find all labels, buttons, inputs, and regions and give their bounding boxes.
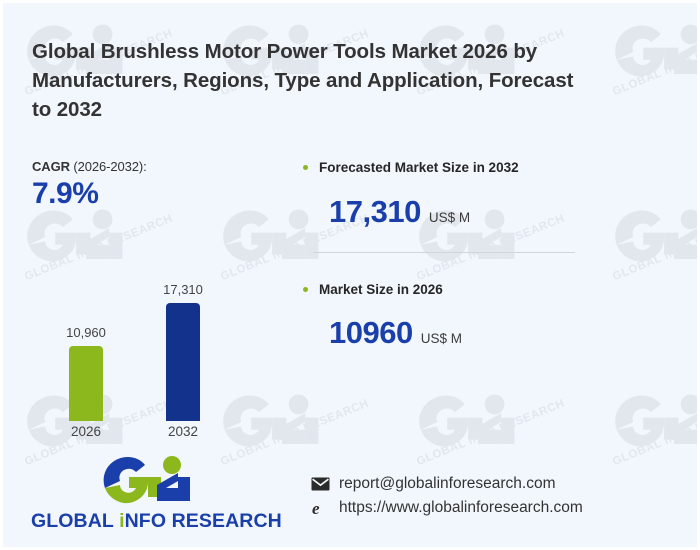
- page-title: Global Brushless Motor Power Tools Marke…: [32, 37, 592, 124]
- svg-text:e: e: [312, 499, 320, 517]
- cagr-block: CAGR (2026-2032): 7.9%: [32, 159, 272, 211]
- bar-rect-2026: [69, 346, 103, 421]
- contact-website: https://www.globalinforesearch.com: [339, 499, 583, 517]
- stat-title-row: Forecasted Market Size in 2032: [303, 158, 683, 178]
- bar-group-2026: 10,960 2026: [69, 346, 103, 421]
- market-size-bar-chart: 10,960 2026 17,310 2032: [23, 273, 273, 443]
- stat-title-current: Market Size in 2026: [319, 280, 443, 300]
- logo-wordmark-part1: GLOBAL: [31, 510, 119, 532]
- report-cover-page: GLOBAL iNFO RESEARCHGLOBAL iNFO RESEARCH…: [0, 0, 700, 550]
- contact-block: report@globalinforesearch.com e https://…: [310, 475, 690, 523]
- company-logo: GLOBAL iNFO RESEARCH: [31, 455, 263, 533]
- contact-row-website[interactable]: e https://www.globalinforesearch.com: [310, 499, 690, 517]
- cagr-label-bold: CAGR: [32, 159, 70, 174]
- bar-label-2032: 2032: [168, 424, 198, 439]
- logo-wordmark: GLOBAL iNFO RESEARCH: [31, 510, 263, 533]
- stats-divider: [313, 252, 575, 253]
- bar-value-2032: 17,310: [163, 282, 203, 297]
- envelope-icon: [310, 475, 331, 493]
- contact-row-email[interactable]: report@globalinforesearch.com: [310, 475, 690, 493]
- gi-logo-icon: [98, 455, 196, 507]
- bar-label-2026: 2026: [71, 424, 101, 439]
- stats-panel: Forecasted Market Size in 2032 17,310 US…: [303, 158, 683, 351]
- stat-block-forecast: Forecasted Market Size in 2032 17,310 US…: [303, 158, 683, 230]
- stat-title-forecast: Forecasted Market Size in 2032: [319, 158, 519, 178]
- bar-group-2032: 17,310 2032: [166, 303, 200, 421]
- bar-value-2026: 10,960: [66, 325, 106, 340]
- stat-block-current: Market Size in 2026 10960 US$ M: [303, 280, 683, 352]
- bullet-dot-icon: [303, 287, 308, 292]
- cagr-label: CAGR (2026-2032):: [32, 159, 272, 174]
- stat-value-row-current: 10960 US$ M: [329, 315, 683, 351]
- bar-rect-2032: [166, 303, 200, 421]
- stat-number-forecast: 17,310: [329, 194, 421, 230]
- stat-unit-forecast: US$ M: [429, 210, 470, 225]
- stat-value-row-forecast: 17,310 US$ M: [329, 194, 683, 230]
- cagr-label-range: (2026-2032):: [70, 159, 147, 174]
- bullet-dot-icon: [303, 165, 308, 170]
- cagr-value: 7.9%: [32, 177, 272, 211]
- stat-number-current: 10960: [329, 315, 413, 351]
- stat-title-row: Market Size in 2026: [303, 280, 683, 300]
- stat-unit-current: US$ M: [421, 331, 462, 346]
- logo-wordmark-part2: NFO RESEARCH: [125, 510, 282, 532]
- contact-email: report@globalinforesearch.com: [339, 475, 555, 493]
- internet-explorer-icon: e: [310, 499, 331, 517]
